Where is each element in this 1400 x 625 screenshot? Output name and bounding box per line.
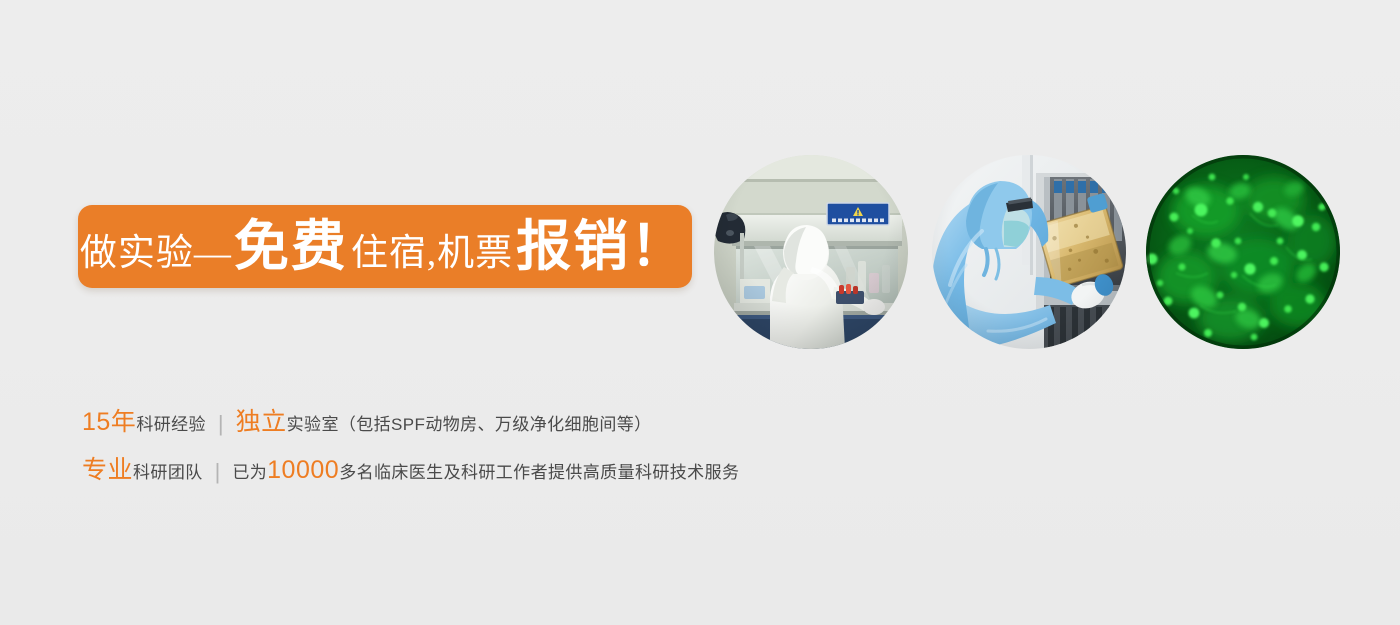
headline-banner[interactable]: 做实验 — 免费 住宿, 机票 报销！ (78, 205, 692, 288)
feature-line-1: 15年 科研经验 | 独立 实验室（包括SPF动物房、万级净化细胞间等） (82, 402, 739, 436)
feature-1-separator: | (206, 411, 236, 437)
feature-line-2: 专业 科研团队 | 已为 10000 多名临床医生及科研工作者提供高质量科研技术… (82, 450, 739, 484)
promo-banner-page: 做实验 — 免费 住宿, 机票 报销！ (0, 0, 1400, 625)
photo-cleanroom-biosafety-cabinet (714, 155, 908, 349)
feature-1-text-experience: 科研经验 (136, 410, 206, 435)
headline-emphasis-free: 免费 (231, 219, 351, 274)
feature-1-text-lab: 实验室（包括SPF动物房、万级净化细胞间等） (287, 410, 652, 435)
feature-2-highlight-count: 10000 (267, 456, 339, 485)
feature-2-highlight-professional: 专业 (82, 450, 133, 486)
photo-researcher-cell-culture-flask (932, 155, 1126, 349)
headline-emphasis-reimburse: 报销！ (513, 219, 690, 274)
headline-dash: — (194, 235, 231, 272)
feature-1-highlight-independent: 独立 (236, 402, 287, 438)
headline-text: 做实验 — 免费 住宿, 机票 报销！ (80, 219, 690, 274)
headline-part-1: 做实验 (80, 235, 194, 272)
feature-2-text-team: 科研团队 (133, 458, 203, 483)
feature-list: 15年 科研经验 | 独立 实验室（包括SPF动物房、万级净化细胞间等） 专业 … (82, 402, 739, 498)
feature-1-highlight-years: 15年 (82, 402, 136, 438)
headline-part-airfare: 机票 (437, 235, 513, 272)
photo-gfp-fluorescence-cells (1146, 155, 1340, 349)
headline-part-lodging: 住宿, (351, 235, 437, 272)
feature-2-text-served-prefix: 已为 (232, 458, 267, 483)
feature-2-separator: | (203, 459, 233, 485)
feature-2-text-service: 多名临床医生及科研工作者提供高质量科研技术服务 (339, 458, 739, 483)
